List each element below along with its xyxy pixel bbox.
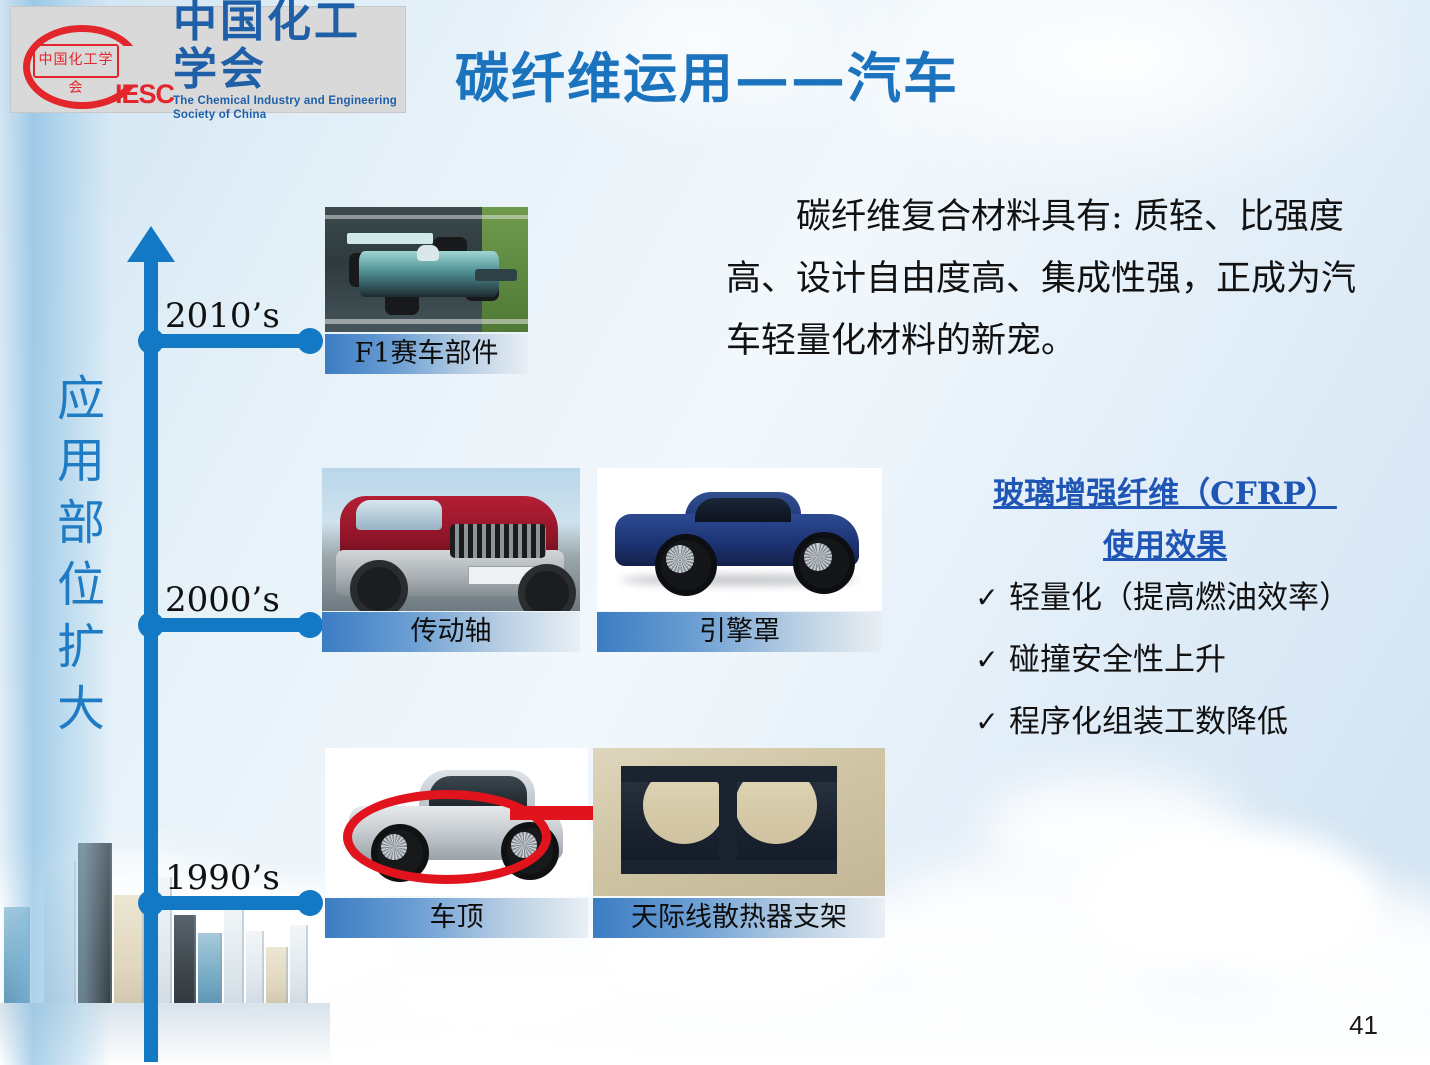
- photo-caption-roof: 车顶: [325, 898, 588, 938]
- timeline-endpoint-2010s: [297, 328, 323, 354]
- page-number: 41: [1349, 1010, 1378, 1041]
- cfrp-heading-line1: 玻璃增强纤维（CFRP）: [993, 476, 1337, 512]
- society-logo: 中国化工学会 IESC 中国化工学会 The Chemical Industry…: [10, 6, 406, 113]
- cfrp-heading: 玻璃增强纤维（CFRP） 使用效果: [960, 468, 1370, 572]
- timeline-axis: [144, 252, 158, 1062]
- timeline-year-2010s: 2010’s: [165, 296, 280, 336]
- timeline-tick-1990s: [150, 896, 310, 910]
- timeline-tick-2010s: [150, 334, 310, 348]
- benefit-label-2: 碰撞安全性上升: [1009, 640, 1226, 680]
- logo-chinese-name: 中国化工学会: [173, 0, 405, 94]
- slide-canvas: 中国化工学会 IESC 中国化工学会 The Chemical Industry…: [0, 0, 1430, 1065]
- timeline-tick-2000s: [150, 618, 310, 632]
- list-item: ✓ 程序化组装工数降低: [965, 702, 1385, 742]
- benefit-label-1: 轻量化（提高燃油效率）: [1009, 578, 1350, 618]
- photo-mitsubishi-suv: [322, 468, 580, 611]
- check-icon: ✓: [965, 578, 1009, 618]
- logo-english-name: The Chemical Industry and Engineering So…: [173, 94, 405, 122]
- timeline-year-2000s: 2000’s: [165, 580, 280, 620]
- benefit-label-3: 程序化组装工数降低: [1009, 702, 1288, 742]
- photo-blue-sports-car: [597, 468, 882, 611]
- logo-emblem-icon: 中国化工学会 IESC: [17, 17, 139, 103]
- check-icon: ✓: [965, 702, 1009, 742]
- axis-label-vertical: 应用部位扩大: [48, 368, 114, 740]
- timeline-arrow-icon: [127, 226, 175, 262]
- annotation-ellipse-icon: [343, 790, 551, 884]
- cfrp-heading-line2: 使用效果: [1103, 528, 1227, 564]
- photo-silver-coupe: [325, 748, 588, 896]
- page-title: 碳纤维运用——汽车: [455, 34, 959, 113]
- body-paragraph: 碳纤维复合材料具有: 质轻、比强度高、设计自由度高、集成性强，正成为汽车轻量化材…: [726, 186, 1358, 372]
- photo-caption-engine-hood: 引擎罩: [597, 612, 882, 652]
- list-item: ✓ 碰撞安全性上升: [965, 640, 1385, 680]
- check-icon: ✓: [965, 640, 1009, 680]
- cfrp-benefit-list: ✓ 轻量化（提高燃油效率） ✓ 碰撞安全性上升 ✓ 程序化组装工数降低: [965, 578, 1385, 764]
- logo-abbrev: IESC: [115, 79, 174, 110]
- timeline-year-1990s: 1990’s: [165, 858, 280, 898]
- photo-caption-drive-shaft: 传动轴: [322, 612, 580, 652]
- timeline-endpoint-1990s: [297, 890, 323, 916]
- timeline-endpoint-2000s: [297, 612, 323, 638]
- photo-caption-f1: F1赛车部件: [325, 334, 528, 374]
- photo-radiator-bracket: [593, 748, 885, 896]
- list-item: ✓ 轻量化（提高燃油效率）: [965, 578, 1385, 618]
- photo-caption-radiator-bracket: 天际线散热器支架: [593, 898, 885, 938]
- logo-mark-text: 中国化工学会: [33, 44, 119, 78]
- photo-f1-race-car: [325, 207, 528, 332]
